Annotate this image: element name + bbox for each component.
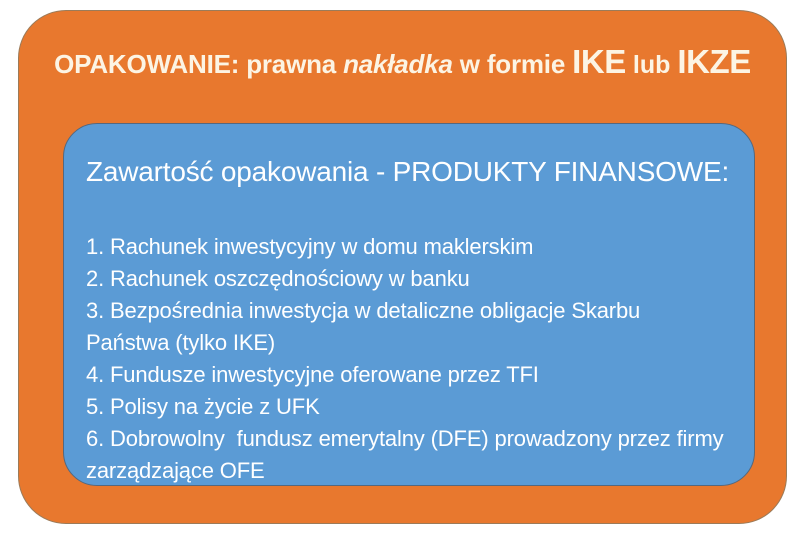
list-item: 5. Polisy na życie z UFK — [86, 391, 726, 423]
header-segment-ikze: IKZE — [677, 43, 751, 80]
header-segment-nakladka: nakładka — [343, 49, 453, 79]
list-item: 4. Fundusze inwestycyjne oferowane przez… — [86, 359, 726, 391]
list-item: 6. Dobrowolny fundusz emerytalny (DFE) p… — [86, 423, 726, 487]
header-segment-opakowanie: OPAKOWANIE: prawna — [54, 49, 343, 79]
outer-package-box: OPAKOWANIE: prawna nakładka w formie IKE… — [18, 10, 787, 524]
header-segment-lub: lub — [626, 51, 677, 79]
financial-products-list: 1. Rachunek inwestycyjny w domu maklersk… — [86, 231, 726, 487]
package-header: OPAKOWANIE: prawna nakładka w formie IKE… — [19, 45, 786, 78]
inner-contents-box: Zawartość opakowania - PRODUKTY FINANSOW… — [63, 123, 755, 486]
list-item: 1. Rachunek inwestycyjny w domu maklersk… — [86, 231, 726, 263]
header-segment-ike: IKE — [572, 43, 626, 80]
list-item: 2. Rachunek oszczędnościowy w banku — [86, 263, 726, 295]
list-item: 3. Bezpośrednia inwestycja w detaliczne … — [86, 295, 726, 359]
contents-heading: Zawartość opakowania - PRODUKTY FINANSOW… — [86, 156, 729, 188]
header-segment-w-formie: w formie — [453, 49, 572, 79]
slide-canvas: OPAKOWANIE: prawna nakładka w formie IKE… — [0, 0, 801, 543]
